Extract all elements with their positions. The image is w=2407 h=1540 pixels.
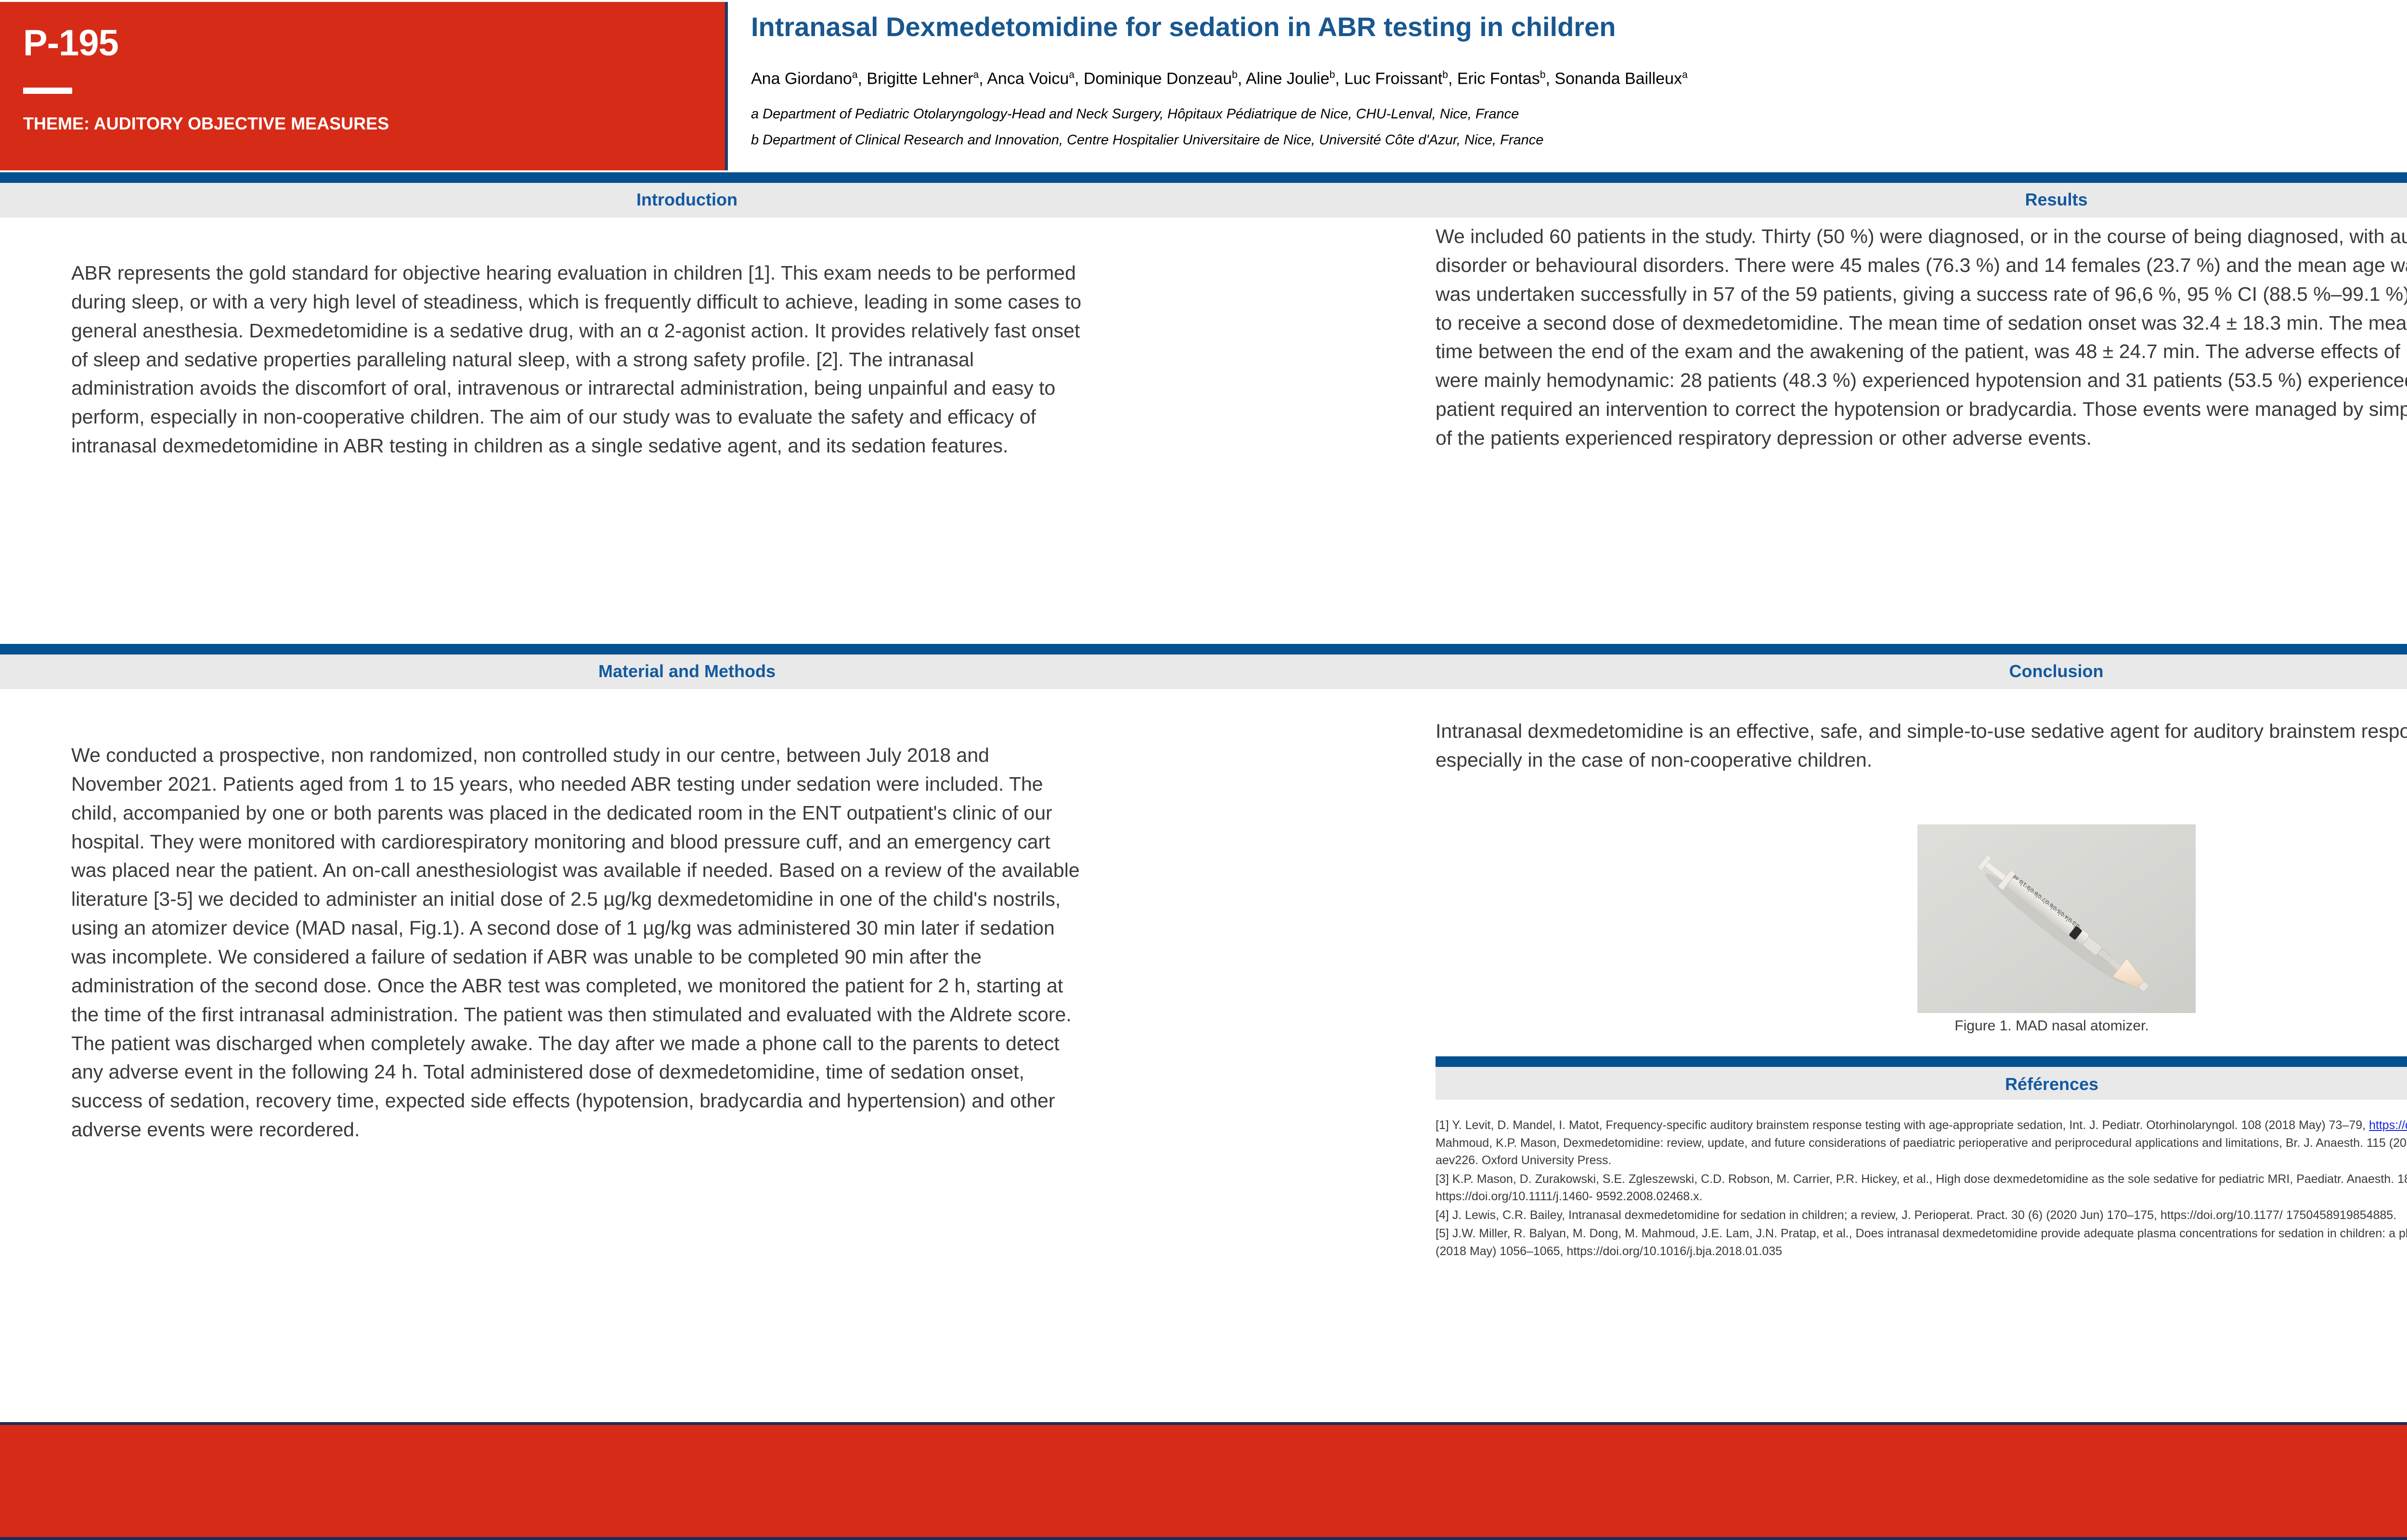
figure-1: ml 1.0 0.9 0.8 0.7 0.6 0.5 0.4 0.3 [1917, 824, 2196, 1013]
reference-text: [5] J.W. Miller, R. Balyan, M. Dong, M. … [1436, 1227, 2407, 1258]
section-title-material-and-methods: Material and Methods [598, 661, 776, 681]
page-title: Intranasal Dexmedetomidine for sedation … [751, 13, 1616, 41]
reference-text: [3] K.P. Mason, D. Zurakowski, S.E. Zgle… [1436, 1172, 2407, 1204]
introduction-text: ABR represents the gold standard for obj… [71, 259, 1082, 461]
section-title-references: Références [2005, 1074, 2098, 1094]
reference-text: [4] J. Lewis, C.R. Bailey, Intranasal de… [1436, 1208, 2396, 1222]
reference-item: [4] J. Lewis, C.R. Bailey, Intranasal de… [1436, 1206, 2407, 1224]
mid-divider-strip [0, 644, 2407, 654]
poster-header: P-195 THEME: AUDITORY OBJECTIVE MEASURES… [0, 0, 2407, 172]
results-text: We included 60 patients in the study. Th… [1436, 222, 2407, 453]
reference-item: [1] Y. Levit, D. Mandel, I. Matot, Frequ… [1436, 1116, 2407, 1169]
figure-caption: Figure 1. MAD nasal atomizer. [1436, 1018, 2407, 1034]
mad-nasal-atomizer-photo: ml 1.0 0.9 0.8 0.7 0.6 0.5 0.4 0.3 [1917, 824, 2196, 1013]
material-and-methods-text: We conducted a prospective, non randomiz… [71, 741, 1082, 1144]
affiliation-a: a Department of Pediatric Otolaryngology… [751, 107, 1519, 122]
title-area: Intranasal Dexmedetomidine for sedation … [728, 2, 2407, 170]
conclusion-text: Intranasal dexmedetomidine is an effecti… [1436, 717, 2407, 775]
section-header-conclusion: Conclusion [1374, 654, 2407, 689]
section-header-references: Références [1436, 1056, 2407, 1100]
reference-item: [5] J.W. Miller, R. Balyan, M. Dong, M. … [1436, 1225, 2407, 1260]
poster-id-block: P-195 THEME: AUDITORY OBJECTIVE MEASURES [0, 2, 728, 170]
poster-id: P-195 [23, 25, 118, 62]
section-header-material-and-methods: Material and Methods [0, 654, 1374, 689]
affiliation-b: b Department of Clinical Research and In… [751, 133, 1543, 148]
section-title-results: Results [2025, 190, 2087, 209]
reference-doi-link[interactable]: https://doi.org/10.1016/j.ijporl.2018.02… [2369, 1118, 2407, 1132]
header-blue-strip [0, 172, 2407, 183]
poster-id-rule [23, 88, 72, 94]
section-header-results: Results [1374, 183, 2407, 218]
reference-item: [3] K.P. Mason, D. Zurakowski, S.E. Zgle… [1436, 1170, 2407, 1206]
footer-red-bar [0, 1422, 2407, 1540]
section-header-introduction: Introduction [0, 183, 1374, 218]
section-title-conclusion: Conclusion [2009, 661, 2104, 681]
author-list: Ana Giordanoa, Brigitte Lehnera, Anca Vo… [751, 69, 1688, 88]
references-list: [1] Y. Levit, D. Mandel, I. Matot, Frequ… [1436, 1116, 2407, 1261]
reference-text: [1] Y. Levit, D. Mandel, I. Matot, Frequ… [1436, 1118, 2369, 1132]
poster-theme: THEME: AUDITORY OBJECTIVE MEASURES [23, 114, 389, 134]
section-title-introduction: Introduction [636, 190, 738, 209]
